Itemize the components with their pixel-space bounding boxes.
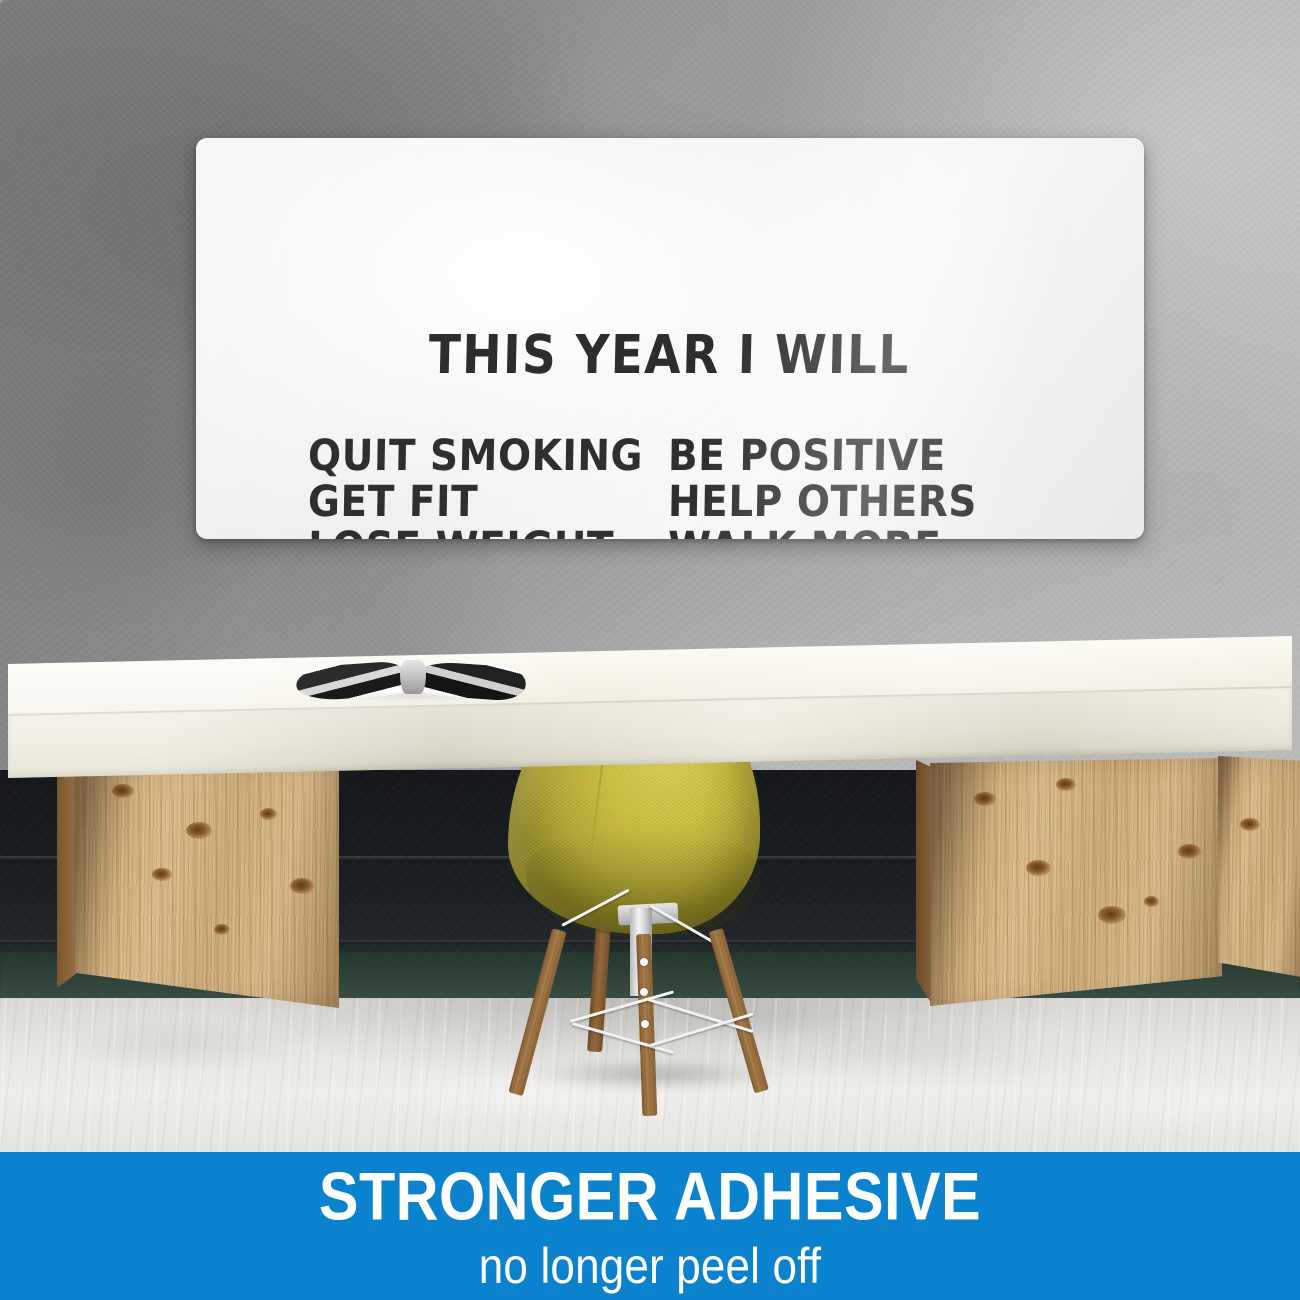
whiteboard-panel[interactable]: THIS YEAR I WILL QUIT SMOKING GET FIT LO…: [196, 138, 1144, 539]
magazine-reflection: [308, 694, 514, 710]
chair-leg-left: [508, 928, 566, 1096]
whiteboard-glare: [196, 138, 1144, 539]
banner-headline: STRONGER ADHESIVE: [65, 1157, 1235, 1235]
banner-subtext: no longer peel off: [78, 1237, 1222, 1295]
chair-leg-stud: [640, 988, 648, 996]
chair-leg-stud: [640, 958, 648, 966]
chair-wire-brace: [570, 990, 675, 1023]
product-lifestyle-scene: THIS YEAR I WILL QUIT SMOKING GET FIT LO…: [0, 0, 1300, 1300]
promo-banner: STRONGER ADHESIVE no longer peel off: [0, 1152, 1300, 1300]
open-magazine[interactable]: [296, 658, 526, 704]
desk-leg-right-side: [916, 760, 932, 1004]
desk-leg-left: [74, 756, 339, 1008]
desk-leg-right-far: [1218, 756, 1300, 996]
desk-leg-right-shading: [930, 758, 1222, 1006]
desk-leg-left-shading: [74, 756, 339, 1008]
chair-leg-stud: [641, 1020, 649, 1028]
desk-leg-right: [930, 758, 1222, 1006]
desk-leg-right-far-shading: [1218, 756, 1300, 996]
chair-leg-right: [708, 928, 769, 1094]
magazine-spine: [400, 660, 426, 694]
